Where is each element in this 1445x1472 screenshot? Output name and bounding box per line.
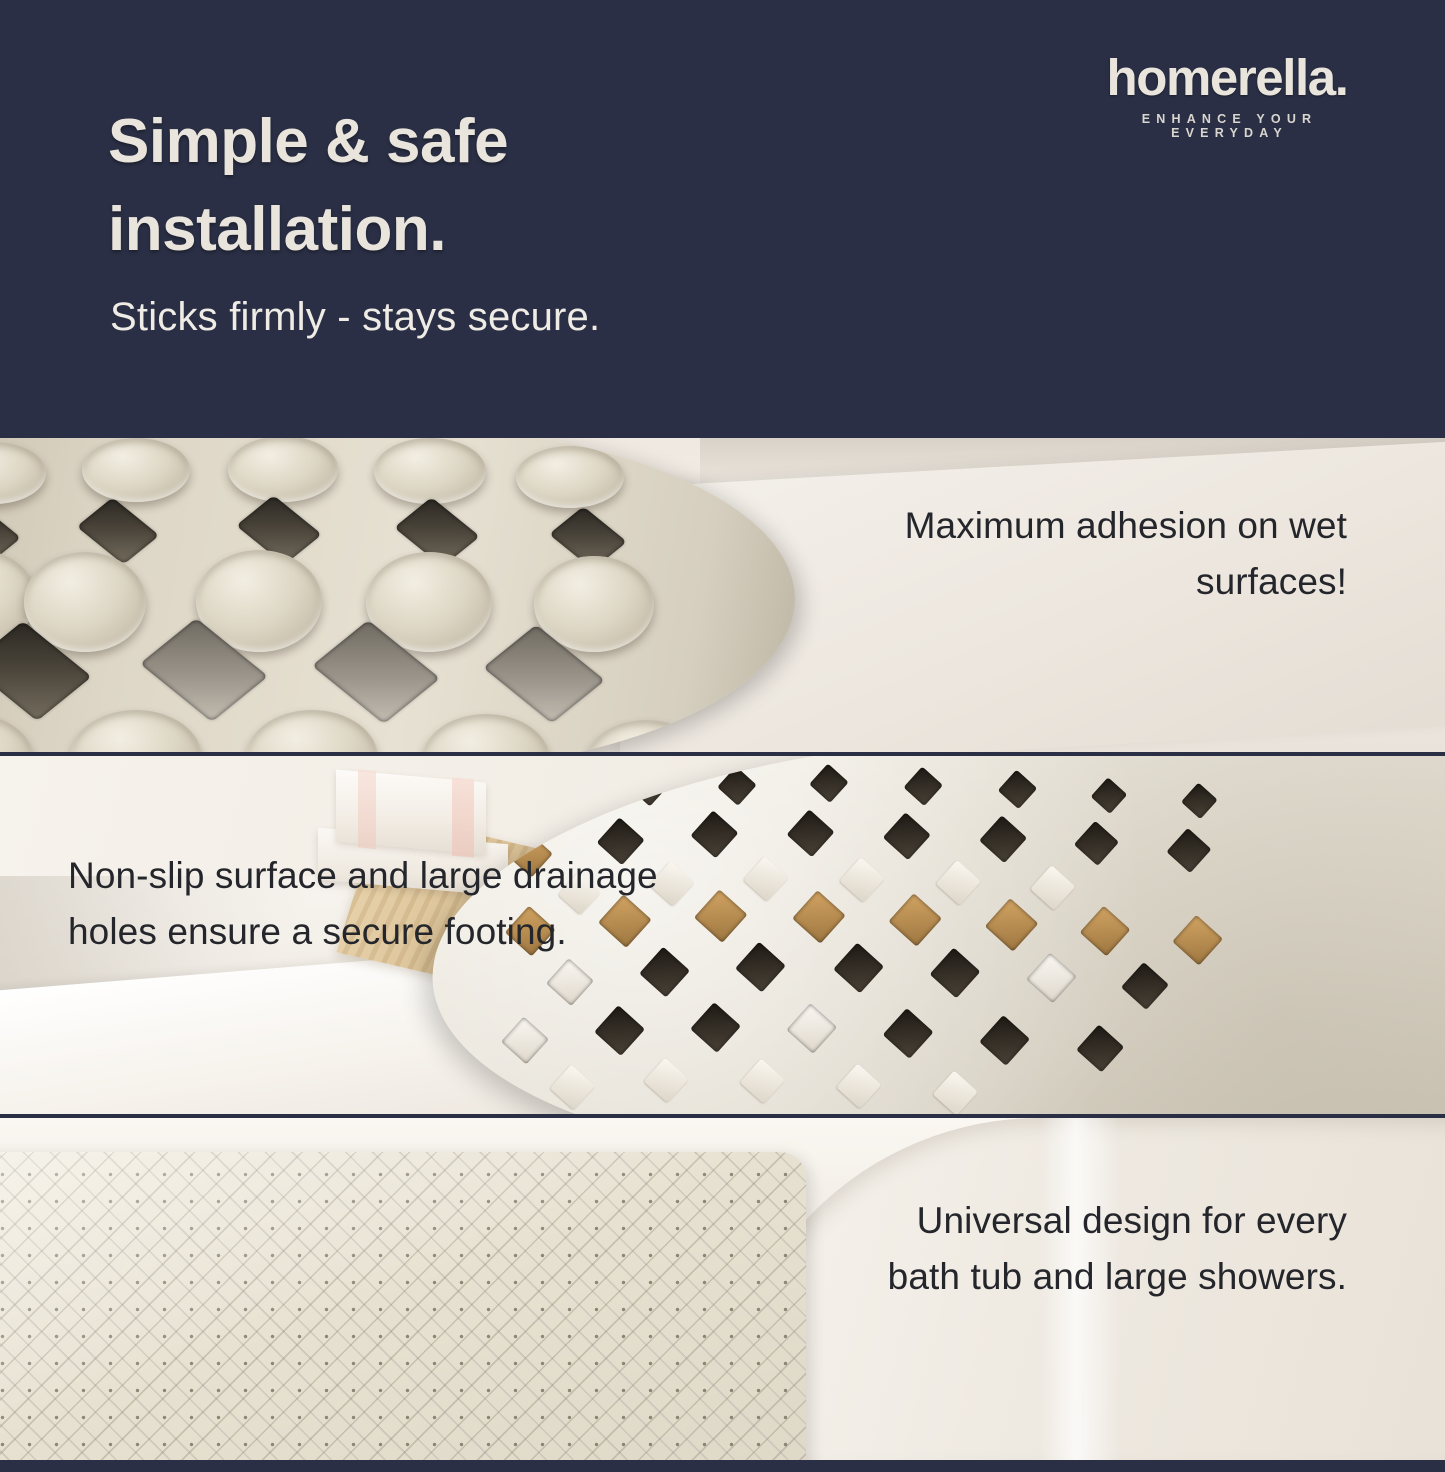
product-image-flat-mat [0,1152,806,1462]
feature-panel-universal: Universal design for every bath tub and … [0,1114,1445,1462]
header-banner: Simple & safe installation. Sticks firml… [0,0,1445,434]
page-subtitle: Sticks firmly - stays secure. [110,295,600,340]
product-infographic: Simple & safe installation. Sticks firml… [0,0,1445,1472]
panel-3-caption: Universal design for every bath tub and … [887,1193,1347,1304]
brand-name: homerella. [1077,52,1377,103]
mat-sheen [0,1152,806,1462]
page-title: Simple & safe installation. [108,98,828,274]
brand-tagline: ENHANCE YOUR EVERYDAY [1077,112,1377,140]
panel-2-caption: Non-slip surface and large drainage hole… [68,848,668,959]
feature-panel-drainage: Non-slip surface and large drainage hole… [0,752,1445,1114]
feature-panel-adhesion: Maximum adhesion on wet surfaces! [0,434,1445,752]
bottom-border [0,1460,1445,1472]
panel-1-caption: Maximum adhesion on wet surfaces! [827,498,1347,609]
brand-logo: homerella. ENHANCE YOUR EVERYDAY [1077,52,1377,140]
product-image-suction-cups [0,434,795,752]
